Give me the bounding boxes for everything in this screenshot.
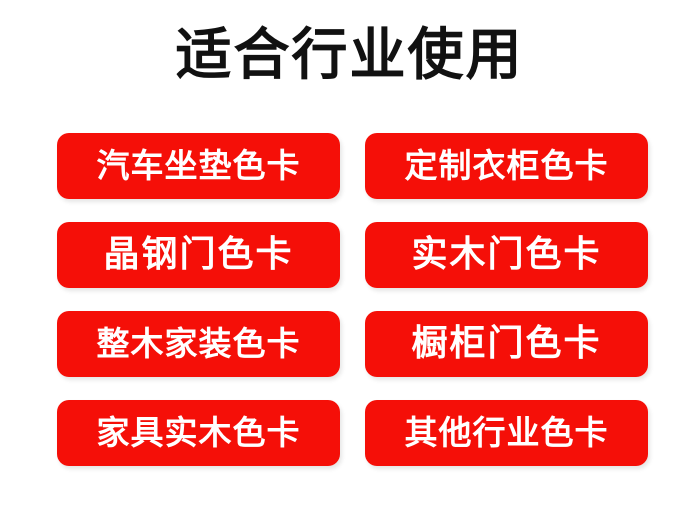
industry-button-label: 整木家装色卡 bbox=[97, 326, 301, 362]
industry-button-other-industries[interactable]: 其他行业色卡 bbox=[365, 400, 648, 466]
industry-button-grid: 汽车坐垫色卡 定制衣柜色卡 晶钢门色卡 实木门色卡 整木家装色卡 橱柜门色卡 家… bbox=[57, 133, 648, 466]
industry-button-furniture-solid-wood[interactable]: 家具实木色卡 bbox=[57, 400, 340, 466]
promo-banner: 适合行业使用 汽车坐垫色卡 定制衣柜色卡 晶钢门色卡 实木门色卡 整木家装色卡 … bbox=[0, 0, 699, 508]
industry-button-label: 橱柜门色卡 bbox=[411, 324, 601, 364]
industry-button-label: 其他行业色卡 bbox=[405, 415, 609, 451]
industry-button-label: 定制衣柜色卡 bbox=[405, 148, 609, 184]
industry-button-solid-wood-door[interactable]: 实木门色卡 bbox=[365, 222, 648, 288]
industry-button-cabinet-door[interactable]: 橱柜门色卡 bbox=[365, 311, 648, 377]
industry-button-label: 汽车坐垫色卡 bbox=[97, 148, 301, 184]
page-title: 适合行业使用 bbox=[0, 20, 699, 90]
industry-button-label: 晶钢门色卡 bbox=[103, 235, 293, 275]
industry-button-crystal-steel-door[interactable]: 晶钢门色卡 bbox=[57, 222, 340, 288]
industry-button-custom-wardrobe[interactable]: 定制衣柜色卡 bbox=[365, 133, 648, 199]
industry-button-label: 实木门色卡 bbox=[411, 235, 601, 275]
industry-button-label: 家具实木色卡 bbox=[97, 415, 301, 451]
industry-button-whole-wood-decoration[interactable]: 整木家装色卡 bbox=[57, 311, 340, 377]
industry-button-car-seat-cushion[interactable]: 汽车坐垫色卡 bbox=[57, 133, 340, 199]
